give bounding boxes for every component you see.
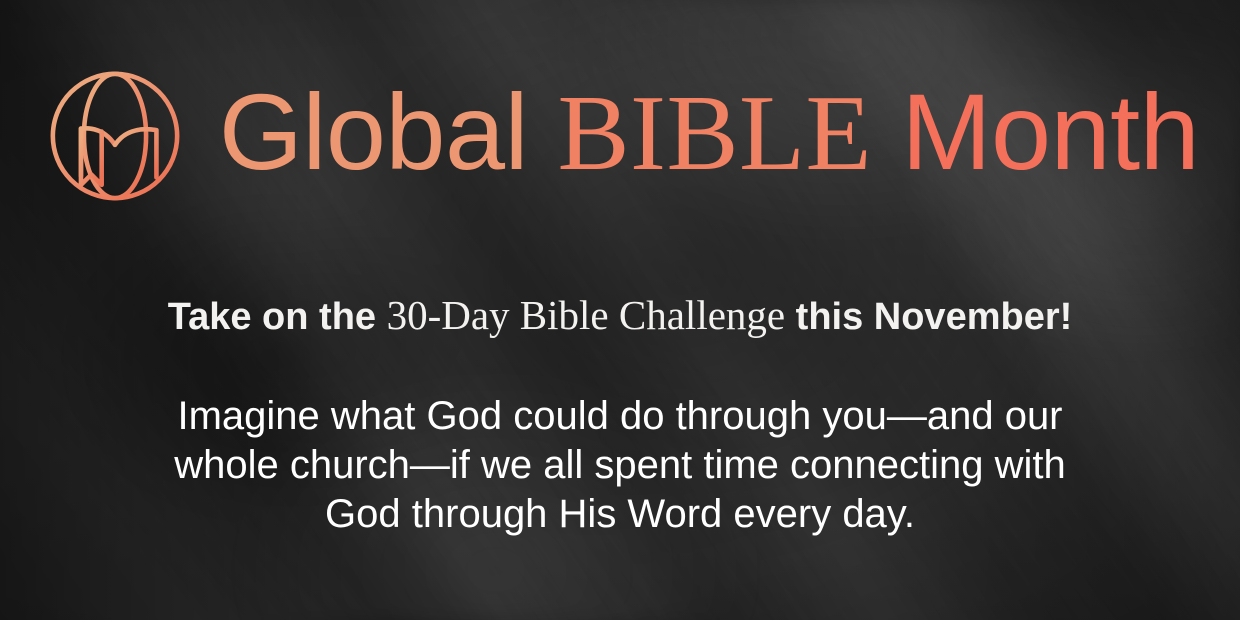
globe-open-book-icon [41, 62, 189, 210]
body-line-3: God through His Word every day. [160, 490, 1080, 539]
promo-banner: Global BIBLE Month Take on the 30-Day Bi… [0, 0, 1240, 620]
title-word-month: Month [902, 71, 1200, 192]
subtitle-trail: this November! [785, 296, 1072, 338]
title-word-bible: BIBLE [558, 74, 872, 193]
subtitle-emphasis: 30-Day Bible Challenge [387, 292, 786, 338]
page-title: Global BIBLE Month [219, 78, 1199, 194]
subtitle-lead: Take on the [168, 296, 387, 338]
banner-content: Global BIBLE Month Take on the 30-Day Bi… [0, 0, 1240, 620]
brand-lockup: Global BIBLE Month [0, 62, 1240, 210]
body-line-2: whole church—if we all spent time connec… [160, 441, 1080, 490]
body-line-1: Imagine what God could do through you—an… [160, 392, 1080, 441]
title-word-global: Global [219, 71, 528, 192]
subtitle: Take on the 30-Day Bible Challenge this … [0, 292, 1240, 340]
body-copy: Imagine what God could do through you—an… [160, 392, 1080, 539]
